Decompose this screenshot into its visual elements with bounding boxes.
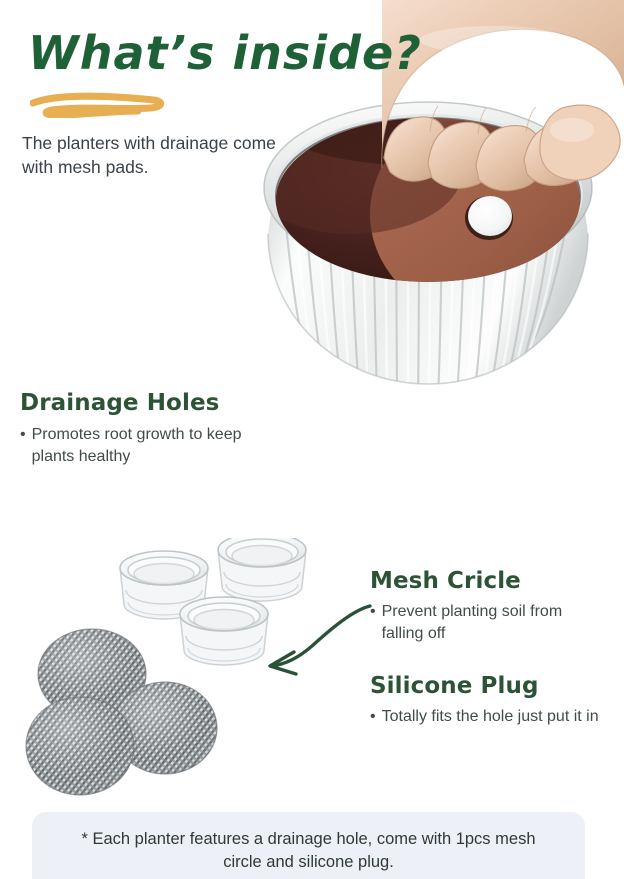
page-subtitle: The planters with drainage come with mes… bbox=[22, 131, 287, 179]
page-title-block: What’s inside? bbox=[28, 30, 358, 76]
page-title: What’s inside? bbox=[28, 30, 358, 76]
footer-note-text: * Each planter features a drainage hole,… bbox=[74, 828, 544, 875]
section-heading: Silicone Plug bbox=[370, 673, 610, 699]
infographic-page: What’s inside? The planters with drainag… bbox=[0, 0, 624, 879]
bullet-text: Totally fits the hole just put it in bbox=[382, 706, 599, 728]
section-body: • Totally fits the hole just put it in bbox=[370, 706, 610, 728]
bullet-marker: • bbox=[20, 424, 26, 467]
bullet-marker: • bbox=[370, 601, 376, 644]
pointer-arrow bbox=[250, 600, 375, 680]
title-underline-swash bbox=[30, 92, 175, 118]
bullet-text: Promotes root growth to keep plants heal… bbox=[32, 424, 270, 467]
section-body: • Prevent planting soil from falling off bbox=[370, 601, 600, 644]
bullet-text: Prevent planting soil from falling off bbox=[382, 601, 600, 644]
section-heading: Mesh Cricle bbox=[370, 568, 600, 594]
bullet-marker: • bbox=[370, 706, 376, 728]
section-silicone-plug: Silicone Plug • Totally fits the hole ju… bbox=[370, 673, 610, 728]
section-mesh-circle: Mesh Cricle • Prevent planting soil from… bbox=[370, 568, 600, 644]
section-heading: Drainage Holes bbox=[20, 390, 270, 416]
section-body: • Promotes root growth to keep plants he… bbox=[20, 424, 270, 467]
footer-note: * Each planter features a drainage hole,… bbox=[32, 812, 585, 879]
section-drainage-holes: Drainage Holes • Promotes root growth to… bbox=[20, 390, 270, 467]
